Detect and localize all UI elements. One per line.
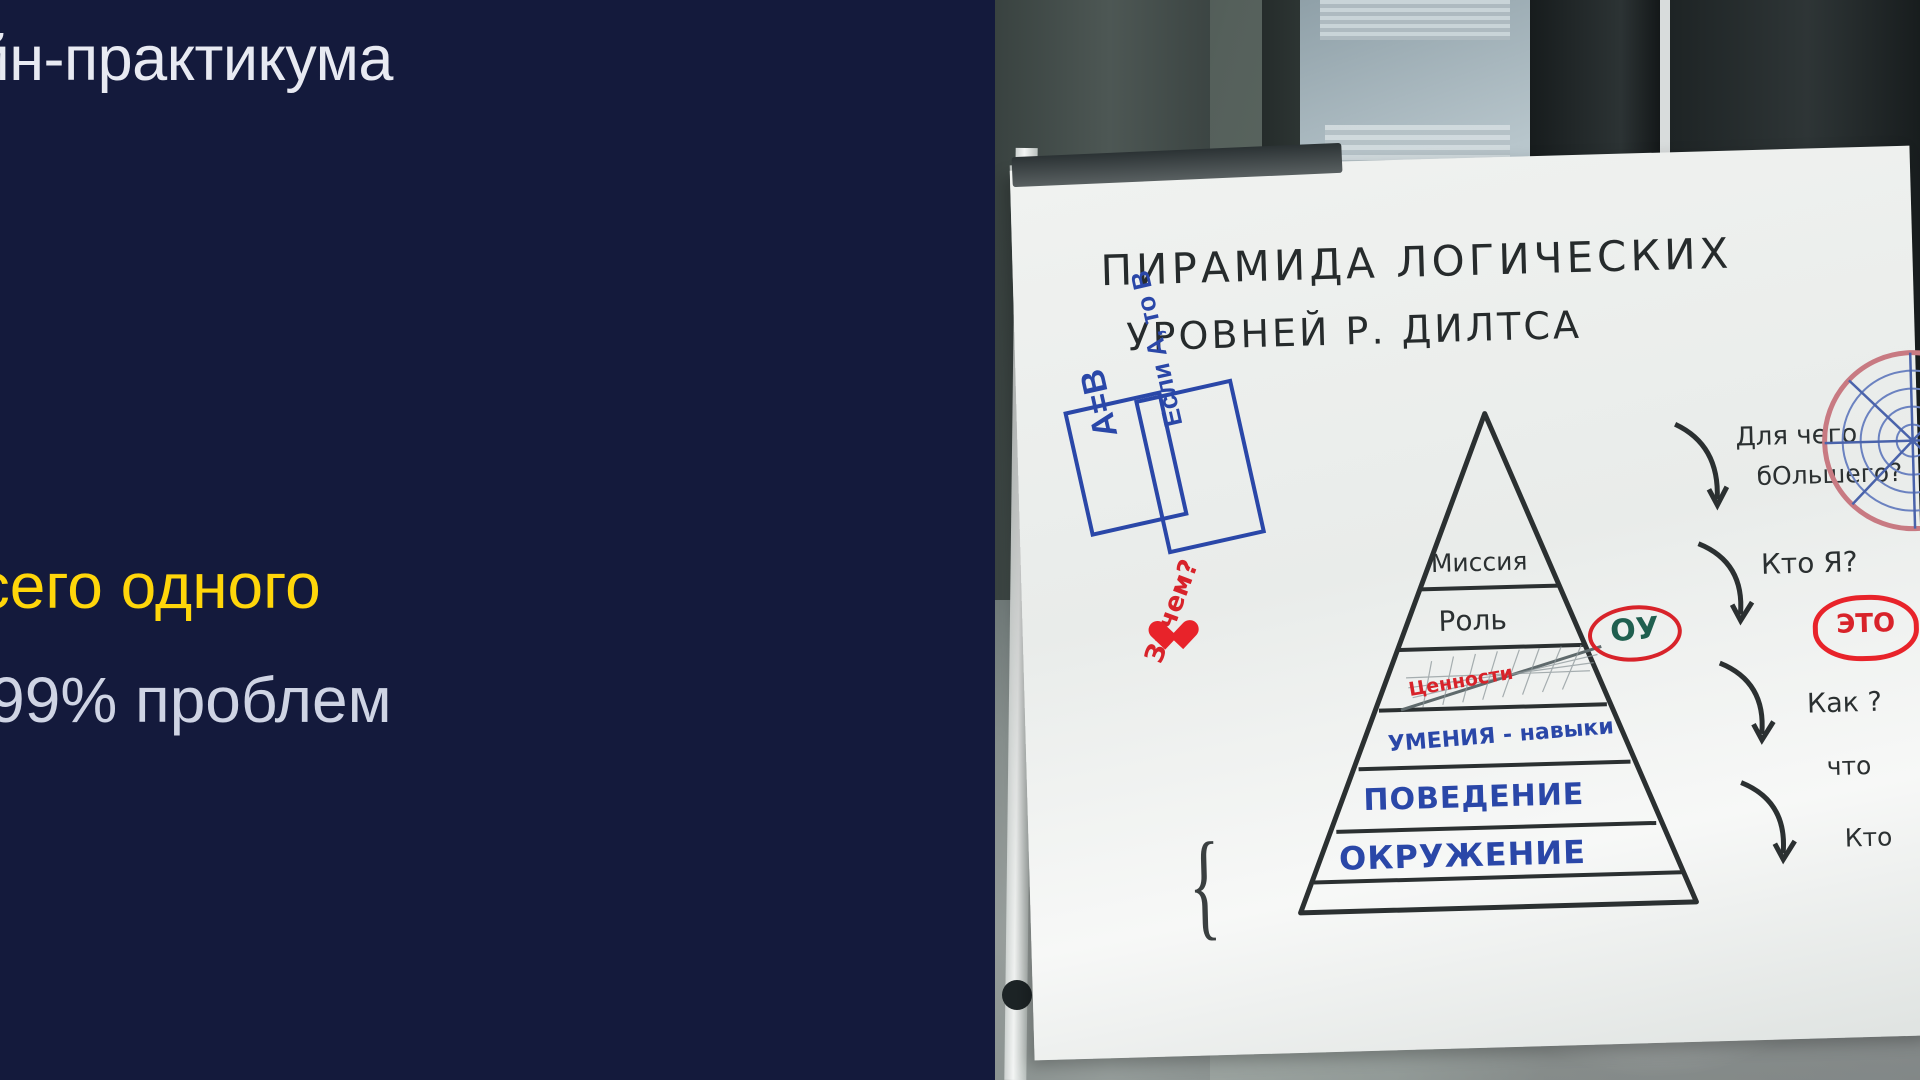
chart-title-line-2: УРОВНЕЙ Р. ДИЛТСА [1126, 303, 1583, 360]
handwriting-layer: ПИРАМИДА ЛОГИЧЕСКИХ УРОВНЕЙ Р. ДИЛТСА A=… [1010, 146, 1920, 1061]
annotation-eto-circled: ЭТО [1812, 594, 1920, 663]
left-brace-bracket: { [1187, 815, 1223, 954]
subheadline-line-1: дью всего одного [0, 548, 1008, 625]
window-blind-top [1320, 0, 1510, 40]
formula-box-a-label: A=B [1073, 365, 1126, 441]
pyramid-level-povedenie: ПОВЕДЕНИЕ [1363, 777, 1585, 818]
headline-line-2: й [0, 104, 1000, 178]
navy-text-panel: айн-практикума й дью всего одного ть до … [0, 0, 995, 1080]
annotation-chto: что [1826, 751, 1871, 781]
pyramid-level-rol: Роль [1438, 603, 1507, 638]
hero-copy: айн-практикума й дью всего одного ть до … [0, 0, 1000, 1080]
annotation-kak: Как ? [1807, 687, 1883, 720]
hero-slide: айн-практикума й дью всего одного ть до … [0, 0, 1920, 1080]
flipchart-adjust-knob [1002, 980, 1032, 1010]
chart-title-line-1: ПИРАМИДА ЛОГИЧЕСКИХ [1100, 229, 1733, 296]
subheadline-line-2: ть до 99% проблем [0, 662, 1018, 739]
pyramid-level-missiya: Миссия [1430, 546, 1527, 578]
flipchart-photo: ПИРАМИДА ЛОГИЧЕСКИХ УРОВНЕЙ Р. ДИЛТСА A=… [960, 0, 1920, 1080]
pyramid-level-okruzhenie: ОКРУЖЕНИЕ [1339, 833, 1587, 878]
wheel-of-balance-diagram [1815, 343, 1920, 538]
annotation-kto: Кто [1844, 822, 1892, 852]
formula-box-if-a-then-b: Если A, то B [1134, 379, 1266, 555]
subheadline-accent-text: всего одного [0, 550, 321, 622]
heart-icon [1155, 621, 1190, 656]
headline-line-1: айн-практикума [0, 22, 1000, 96]
annotation-kto-ya: Кто Я? [1761, 545, 1858, 581]
dilts-pyramid: Миссия Роль Ценности УМЕНИЯ - навыки ПОВ… [1275, 402, 1710, 944]
